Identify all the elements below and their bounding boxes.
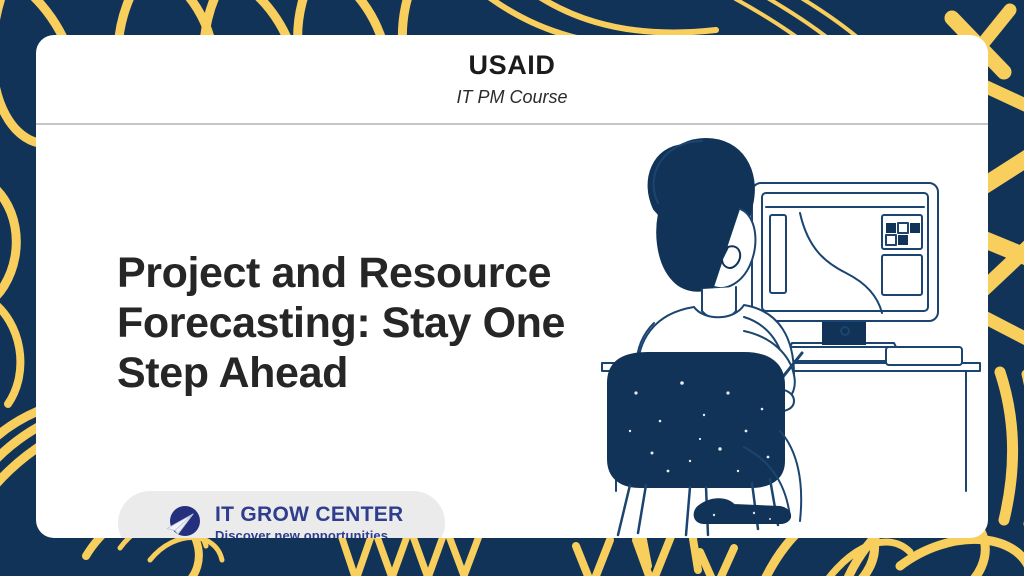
card-content: Project and Resource Forecasting: Stay O… <box>36 123 988 538</box>
presentation-slide: USAID IT PM Course Project and Resource … <box>0 0 1024 576</box>
slide-card: USAID IT PM Course Project and Resource … <box>36 35 988 538</box>
course-subtitle: IT PM Course <box>456 87 567 108</box>
logo-name: IT GROW CENTER <box>215 503 404 526</box>
person-at-desk-illustration <box>594 131 988 538</box>
logo-tagline: Discover new opportunities <box>215 529 404 538</box>
logo-badge: IT GROW CENTER Discover new opportunitie… <box>118 491 445 538</box>
card-header: USAID IT PM Course <box>36 35 988 123</box>
logo-text-block: IT GROW CENTER Discover new opportunitie… <box>215 503 404 538</box>
slide-headline: Project and Resource Forecasting: Stay O… <box>117 249 617 399</box>
paper-plane-icon <box>162 503 202 538</box>
organization-title: USAID <box>468 50 555 81</box>
